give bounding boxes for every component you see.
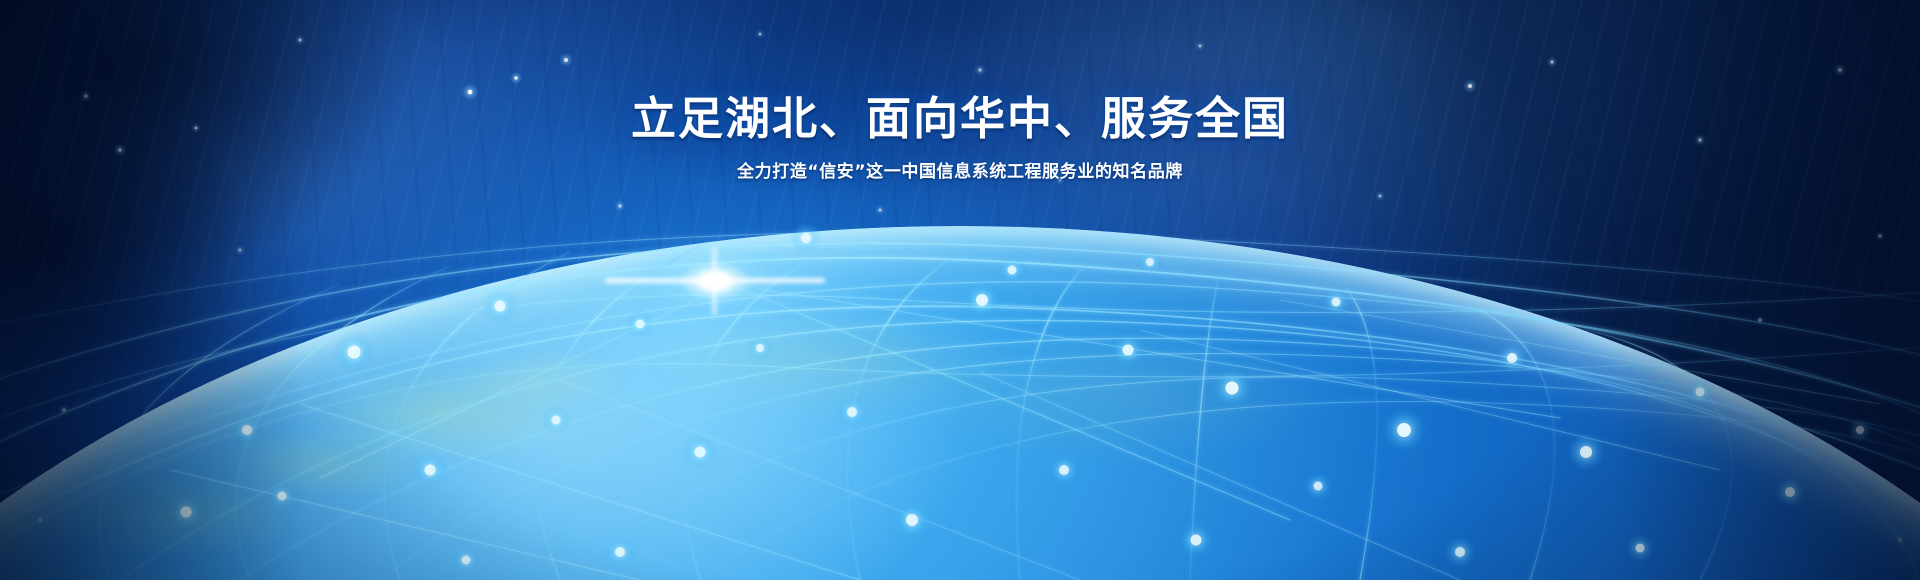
network-node xyxy=(1507,353,1517,363)
star xyxy=(62,408,65,411)
star xyxy=(1379,195,1382,198)
network-node xyxy=(615,547,625,557)
network-node xyxy=(462,556,471,565)
banner-headline: 立足湖北、面向华中、服务全国 xyxy=(0,0,1920,147)
star xyxy=(1879,235,1882,238)
network-node xyxy=(847,407,857,417)
network-node xyxy=(1856,426,1864,434)
network-node xyxy=(1226,382,1239,395)
network-node xyxy=(1785,487,1795,497)
network-arc xyxy=(384,252,570,580)
network-node xyxy=(552,416,561,425)
network-node xyxy=(1059,465,1069,475)
network-node xyxy=(1332,298,1341,307)
network-node xyxy=(1397,423,1411,437)
banner-subheadline: 全力打造“信安”这一中国信息系统工程服务业的知名品牌 xyxy=(0,147,1920,185)
network-node xyxy=(906,514,918,526)
star xyxy=(1759,319,1762,322)
network-node xyxy=(278,492,287,501)
network-arc xyxy=(1346,288,1377,580)
network-node xyxy=(495,301,506,312)
star xyxy=(39,519,42,522)
network-node xyxy=(1455,547,1465,557)
network-arc xyxy=(100,284,340,580)
network-link xyxy=(170,470,640,580)
star xyxy=(1899,539,1902,542)
network-node xyxy=(1146,258,1154,266)
network-node xyxy=(1580,446,1592,458)
network-link xyxy=(1280,300,1880,404)
light-burst xyxy=(565,201,865,361)
network-arc xyxy=(0,243,1920,392)
network-nodes xyxy=(168,222,1872,574)
network-arcs xyxy=(0,232,1920,580)
network-node xyxy=(181,507,192,518)
network-node xyxy=(348,346,361,359)
network-node xyxy=(1123,345,1134,356)
network-node xyxy=(242,425,252,435)
network-links xyxy=(170,284,1880,580)
banner-copy: 立足湖北、面向华中、服务全国 全力打造“信安”这一中国信息系统工程服务业的知名品… xyxy=(0,0,1920,185)
star xyxy=(239,249,242,252)
network-arc xyxy=(0,258,1920,470)
network-node xyxy=(425,465,436,476)
hero-banner: 立足湖北、面向华中、服务全国 全力打造“信安”这一中国信息系统工程服务业的知名品… xyxy=(0,0,1920,580)
network-node xyxy=(695,447,706,458)
network-node xyxy=(1696,388,1705,397)
network-link xyxy=(560,380,1080,580)
network-node xyxy=(1314,482,1323,491)
network-arc xyxy=(0,232,1920,336)
network-node xyxy=(1008,266,1017,275)
flare-vertical xyxy=(712,247,717,315)
network-node xyxy=(976,294,988,306)
network-node xyxy=(1191,535,1202,546)
network-node xyxy=(1636,544,1645,553)
star xyxy=(879,209,882,212)
